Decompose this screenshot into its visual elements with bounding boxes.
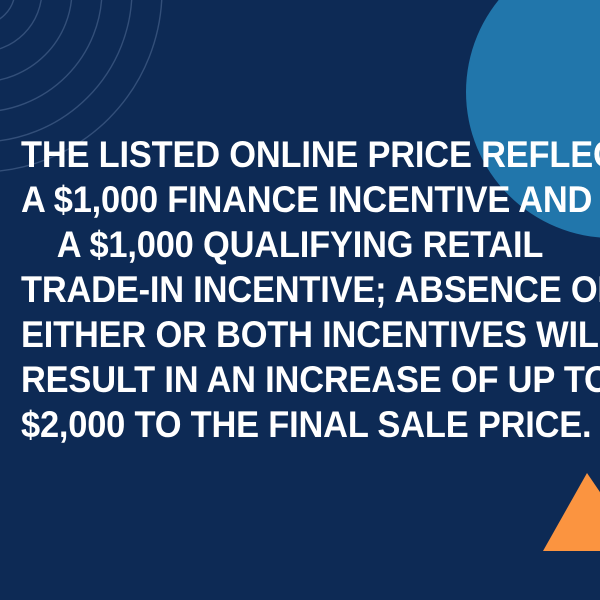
orange-triangle xyxy=(543,473,600,551)
arc-ring-5 xyxy=(0,0,132,142)
promo-banner: THE LISTED ONLINE PRICE REFLECTS A $1,00… xyxy=(0,0,600,600)
headline-line-4: TRADE-IN INCENTIVE; ABSENCE OF xyxy=(21,267,579,312)
headline-line-1: THE LISTED ONLINE PRICE REFLECTS xyxy=(21,132,579,177)
arc-ring-1 xyxy=(0,0,15,25)
disclaimer-headline: THE LISTED ONLINE PRICE REFLECTS A $1,00… xyxy=(21,132,579,447)
headline-line-3: A $1,000 QUALIFYING RETAIL xyxy=(21,222,579,267)
headline-line-6: RESULT IN AN INCREASE OF UP TO xyxy=(21,357,579,402)
arc-ring-3 xyxy=(0,0,72,82)
headline-line-2: A $1,000 FINANCE INCENTIVE AND xyxy=(21,177,579,222)
arc-ring-2 xyxy=(0,0,42,52)
headline-line-5: EITHER OR BOTH INCENTIVES WILL xyxy=(21,312,579,357)
arc-ring-4 xyxy=(0,0,102,112)
headline-line-7: $2,000 TO THE FINAL SALE PRICE. xyxy=(21,402,579,447)
